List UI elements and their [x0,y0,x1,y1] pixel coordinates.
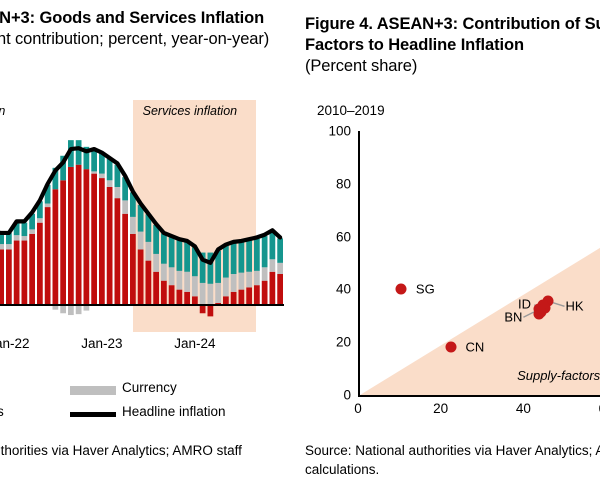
figure-3-x-tick-jan-24: Jan-24 [174,336,215,351]
figure-4-x-tick-20: 20 [433,401,448,416]
figure-3-services-band-label: Services inflation [143,104,238,118]
figure-4-supply-region-shape [360,131,600,395]
figure-4-title-line-1: Figure 4. ASEAN+3: Contribution of Suppl… [305,14,600,35]
figure-4-x-axis-labels: 0204060 [358,401,600,421]
figure-4-y-tick-0: 0 [343,388,351,403]
legend-swatch-currency [70,386,116,395]
legend-label-services: Services [0,404,4,419]
scatter-point [536,307,547,318]
figure-4-source-line-1: Source: National authorities via Haver A… [305,441,600,460]
figure-3-title: Figure 3. ASEAN+3: Goods and Services In… [0,8,269,29]
figure-4-source: Source: National authorities via Haver A… [305,441,600,479]
scatter-label-id: ID [518,297,531,312]
scatter-label-sg: SG [416,282,435,297]
figure-3-bars [0,100,284,332]
figure-4-plot-area: Supply-factors driven SGCNBNIDHK [358,131,600,397]
figure-4-y-tick-80: 80 [336,176,351,191]
figure-3-plot-area: Goods inflation Services inflation [0,100,284,332]
figure-4-y-tick-100: 100 [328,124,351,139]
scatter-label-cn: CN [466,340,485,355]
legend-label-headline-inflation: Headline inflation [122,404,226,419]
legend-label-currency: Currency [122,380,177,395]
scatter-point-sg [396,284,407,295]
figure-4-title-line-2: Factors to Headline Inflation [305,35,600,56]
figure-3-zero-axis [0,304,284,306]
figure-3-panel: Figure 3. ASEAN+3: Goods and Services In… [0,0,290,495]
figure-4-supply-region [360,131,600,395]
figure-3-legend: GoodsServicesCurrencyHeadline inflation [0,380,290,428]
figure-4-x-tick-0: 0 [354,401,362,416]
figure-4-subtitle: (Percent share) [305,56,600,77]
figure-3-title-block: Figure 3. ASEAN+3: Goods and Services In… [0,8,269,50]
figure-4-y-tick-20: 20 [336,335,351,350]
figure-pair-page: Figure 3. ASEAN+3: Goods and Services In… [0,0,600,495]
figure-3-x-tick-jan-23: Jan-23 [81,336,122,351]
figure-4-x-tick-40: 40 [516,401,531,416]
figure-3-x-tick-jan-22: Jan-22 [0,336,30,351]
figure-4-panel: Figure 4. ASEAN+3: Contribution of Suppl… [305,0,600,495]
figure-4-period-label: 2010–2019 [317,103,385,118]
figure-3-source: Source: National authorities via Haver A… [0,442,242,459]
figure-3-subtitle: (Percentage point contribution; percent,… [0,29,269,50]
figure-4-y-axis-labels: 020406080100 [305,131,351,395]
figure-3-x-axis-labels: Jan-21Jan-22Jan-23Jan-24 [0,336,284,356]
figure-4-y-tick-40: 40 [336,282,351,297]
figure-3-goods-band-label: Goods inflation [0,104,5,118]
figure-4-title-block: Figure 4. ASEAN+3: Contribution of Suppl… [305,14,600,77]
scatter-point-cn [445,342,456,353]
figure-4-supply-driven-label: Supply-factors driven [517,368,600,383]
figure-4-source-line-2: calculations. [305,460,600,479]
figure-4-y-tick-60: 60 [336,229,351,244]
scatter-label-hk: HK [565,299,583,314]
legend-swatch-headline-inflation [70,412,116,417]
